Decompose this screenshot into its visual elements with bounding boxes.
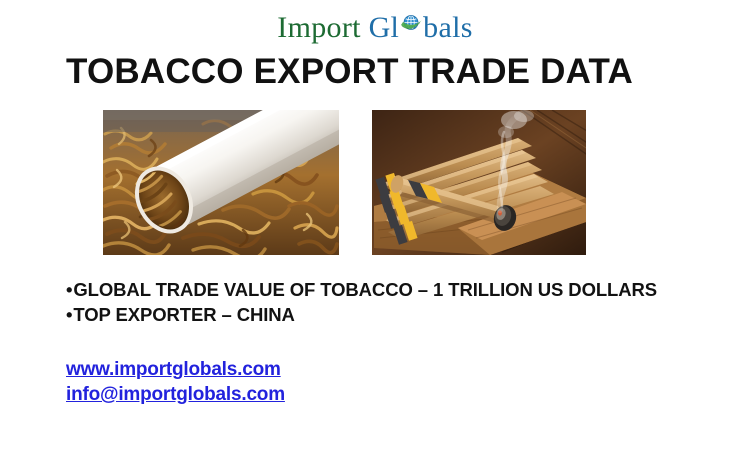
cigars-in-wooden-box-photo: [372, 110, 592, 255]
logo-text-import: Import: [277, 11, 360, 44]
page-title: TOBACCO EXPORT TRADE DATA: [66, 52, 633, 92]
email-link[interactable]: info@importglobals.com: [66, 382, 285, 407]
bullet-text: GLOBAL TRADE VALUE OF TOBACCO – 1 TRILLI…: [73, 279, 657, 300]
list-item: •TOP EXPORTER – CHINA: [66, 302, 706, 327]
list-item: •GLOBAL TRADE VALUE OF TOBACCO – 1 TRILL…: [66, 277, 706, 302]
website-link[interactable]: www.importglobals.com: [66, 357, 285, 382]
slide-canvas: Import Gl bals TOBACCO EXPORT TRADE DATA: [0, 0, 750, 450]
globe-icon: [399, 12, 423, 36]
logo-text-gl: Gl: [369, 11, 400, 44]
cigarette-on-tobacco-photo: [103, 110, 339, 255]
bullet-text: TOP EXPORTER – CHINA: [73, 304, 294, 325]
bullet-list: •GLOBAL TRADE VALUE OF TOBACCO – 1 TRILL…: [66, 277, 706, 327]
bullet-marker: •: [66, 277, 72, 302]
logo-space: [361, 11, 369, 44]
brand-logo: Import Gl bals: [0, 12, 750, 43]
bullet-marker: •: [66, 302, 72, 327]
logo-text-bals: bals: [423, 11, 473, 44]
contact-links: www.importglobals.com info@importglobals…: [66, 357, 285, 407]
